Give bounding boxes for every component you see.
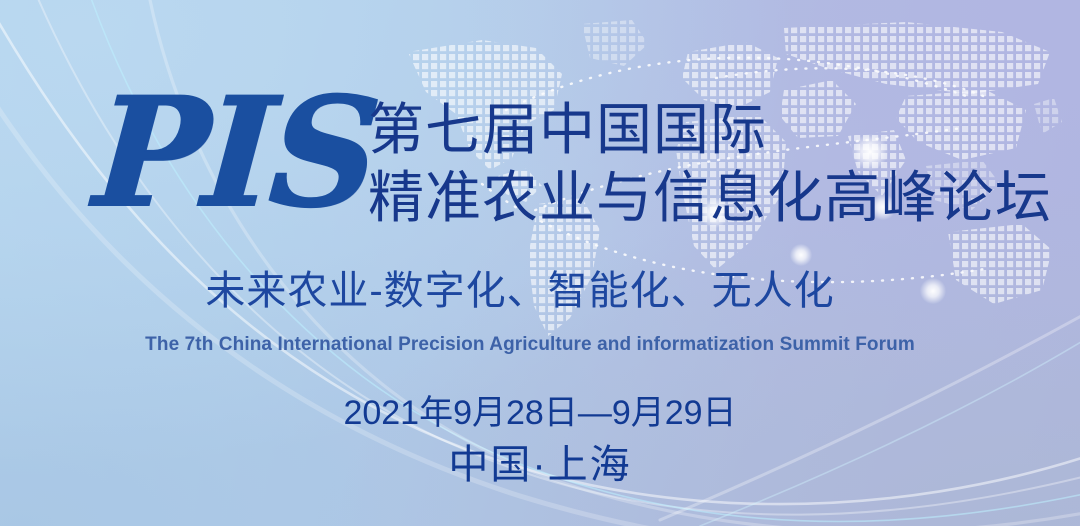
- headline: 第七届中国国际 精准农业与信息化高峰论坛: [368, 96, 1052, 233]
- english-title: The 7th China International Precision Ag…: [0, 334, 1080, 356]
- event-location: 中国·上海: [0, 432, 1080, 490]
- event-poster: PIS 第七届中国国际 精准农业与信息化高峰论坛 未来农业-数字化、智能化、无人…: [0, 0, 1080, 526]
- subtitle: 未来农业-数字化、智能化、无人化: [0, 258, 1080, 316]
- pis-logo: PIS: [91, 78, 381, 228]
- headline-line-2: 精准农业与信息化高峰论坛: [368, 164, 1052, 232]
- headline-line-1: 第七届中国国际: [368, 96, 1052, 164]
- event-date: 2021年9月28日—9月29日: [0, 385, 1080, 434]
